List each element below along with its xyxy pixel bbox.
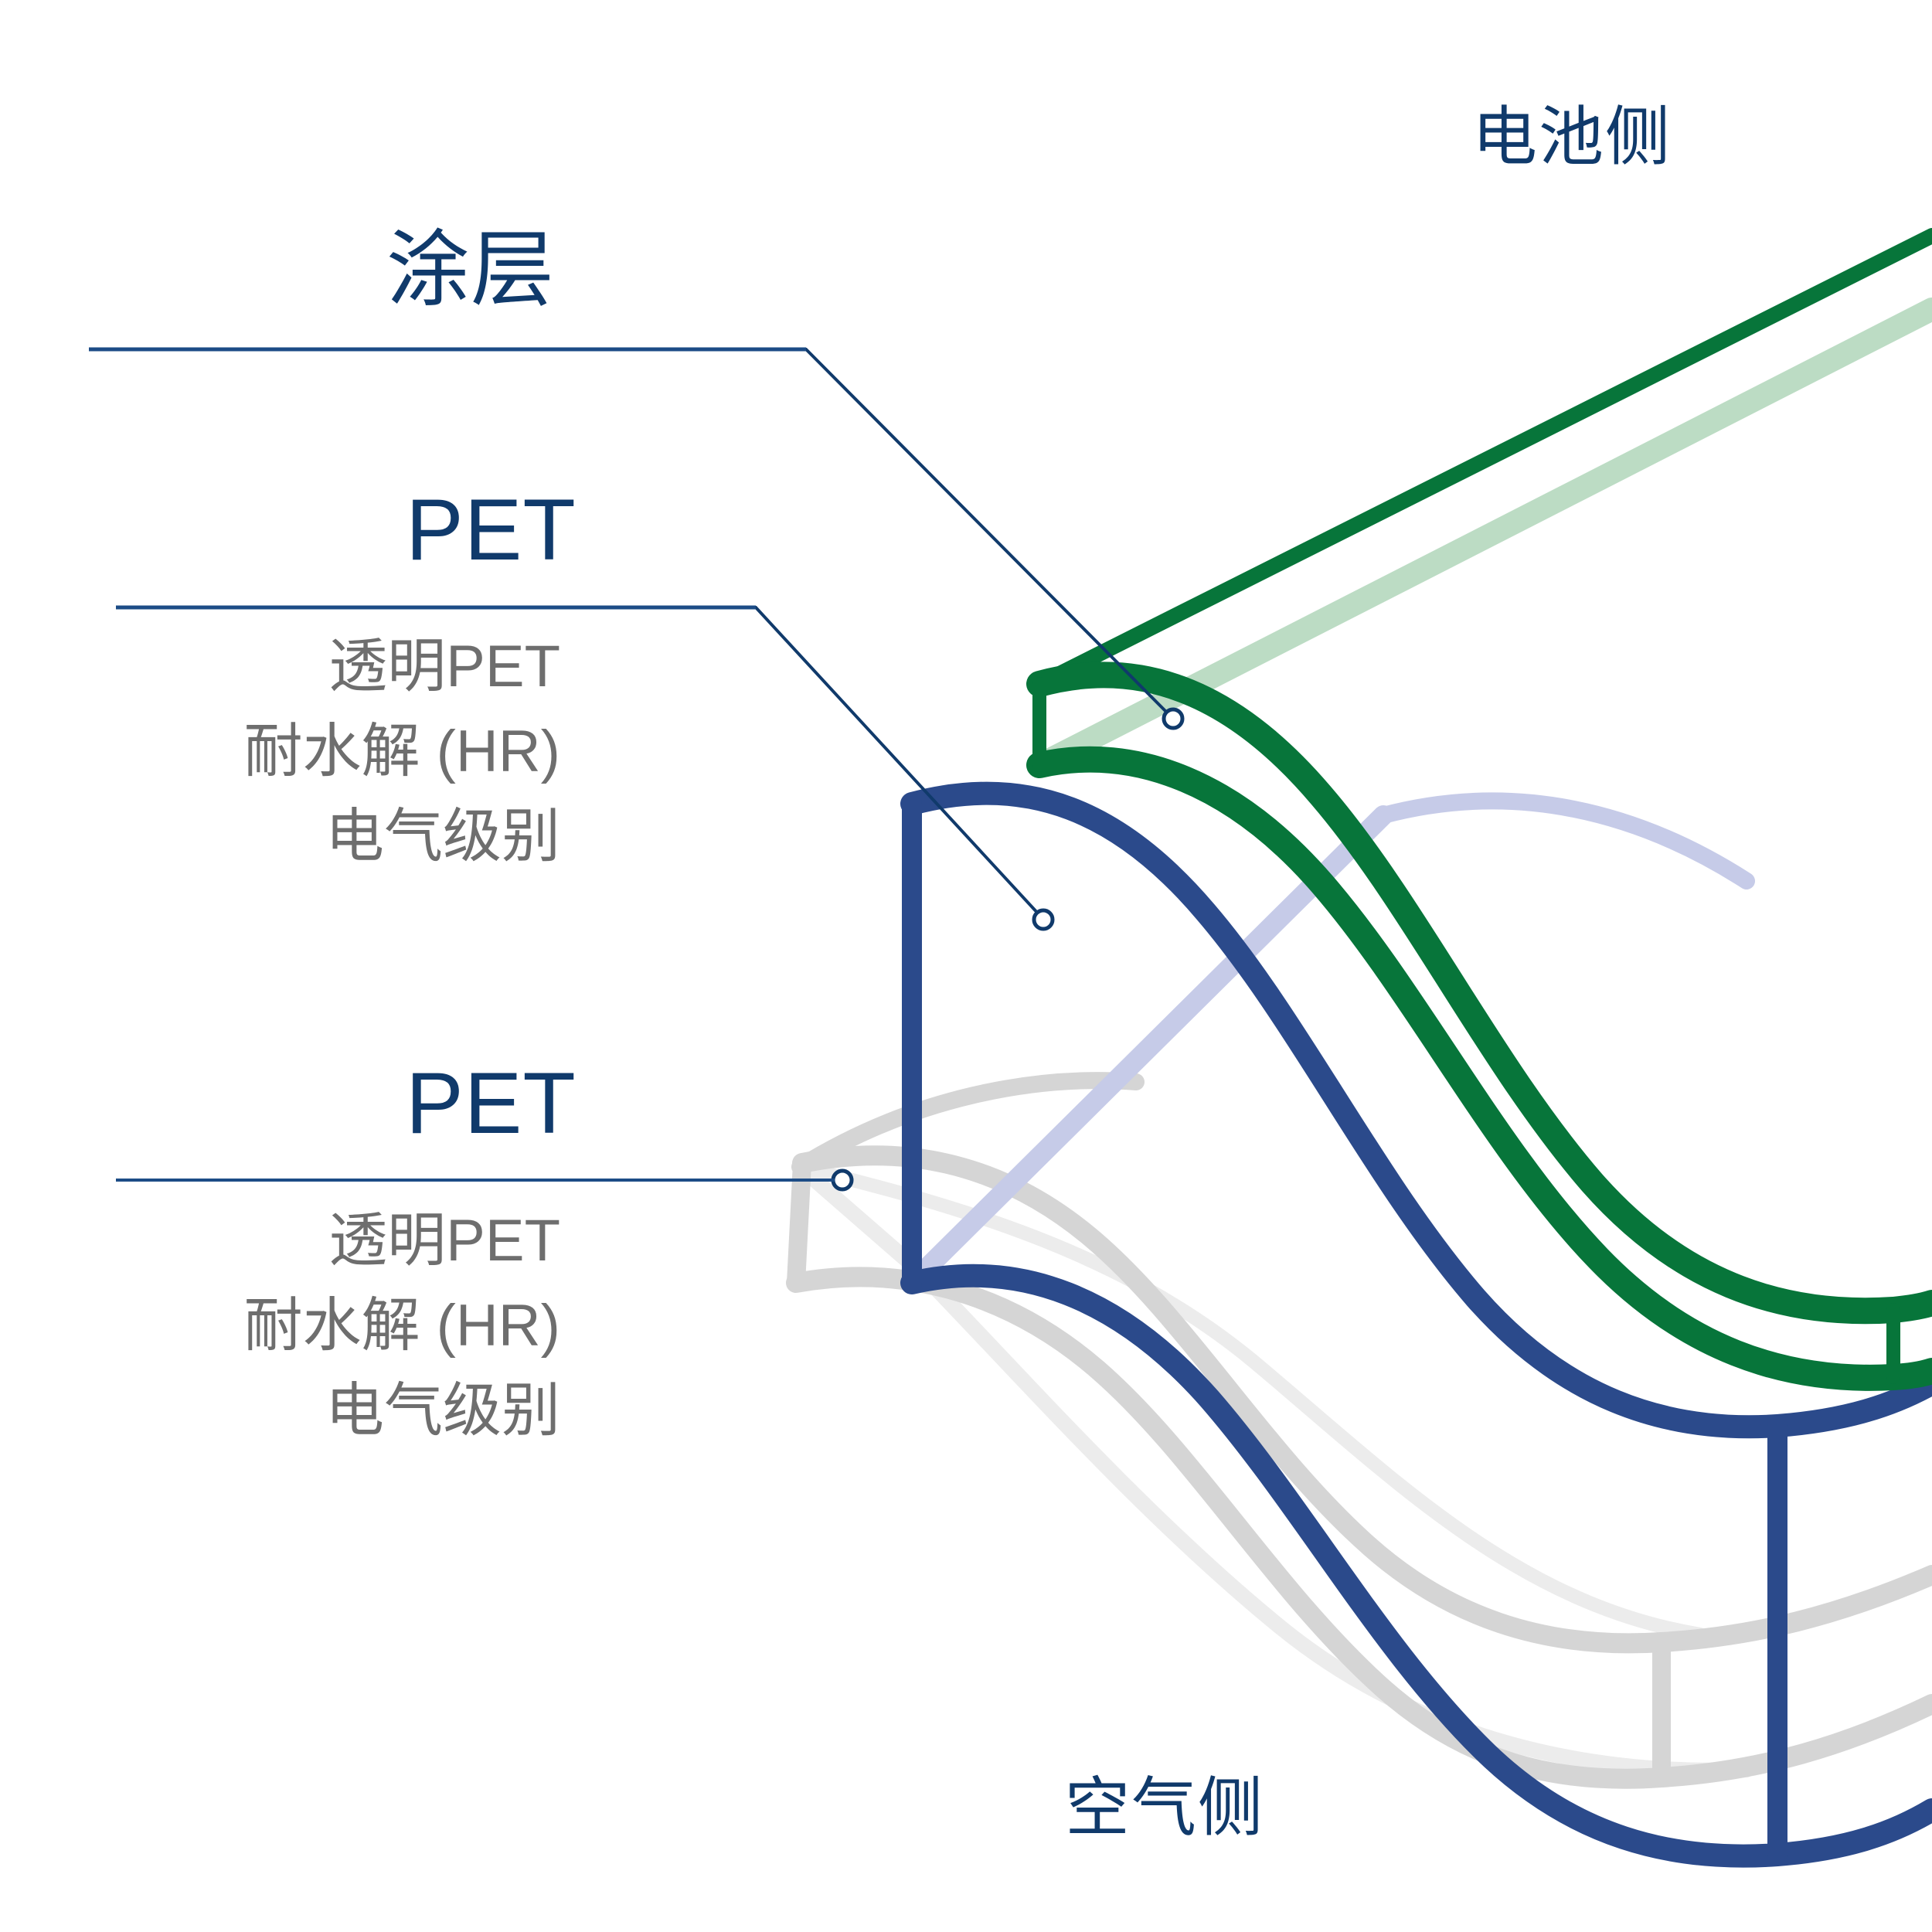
air-side-label: 空气侧	[1065, 1770, 1264, 1846]
detail-line: 透明PET	[139, 618, 560, 703]
diagram-canvas: 电池侧 空气侧 涂层 PET 透明PET 耐水解 (HR) 电气级别 PET 透…	[0, 0, 1932, 1932]
leader-endpoint-pet-upper	[1034, 910, 1053, 929]
callout-heading-pet-upper: PET	[406, 479, 577, 581]
layer-stack-illustration	[0, 0, 1932, 1932]
detail-line: 电气级别	[139, 788, 560, 873]
detail-line: 耐水解 (HR)	[139, 703, 560, 788]
leader-endpoint-pet-lower	[833, 1171, 852, 1189]
callout-details-pet-upper: 透明PET 耐水解 (HR) 电气级别	[139, 618, 560, 873]
callout-heading-coating: 涂层	[386, 220, 555, 318]
cell-side-label: 电池侧	[1472, 99, 1672, 175]
detail-line: 电气级别	[139, 1362, 560, 1447]
leader-endpoint-coating	[1164, 709, 1182, 728]
callout-details-pet-lower: 透明PET 耐水解 (HR) 电气级别	[139, 1192, 560, 1447]
callout-heading-pet-lower: PET	[406, 1053, 577, 1155]
detail-line: 耐水解 (HR)	[139, 1277, 560, 1362]
detail-line: 透明PET	[139, 1192, 560, 1277]
